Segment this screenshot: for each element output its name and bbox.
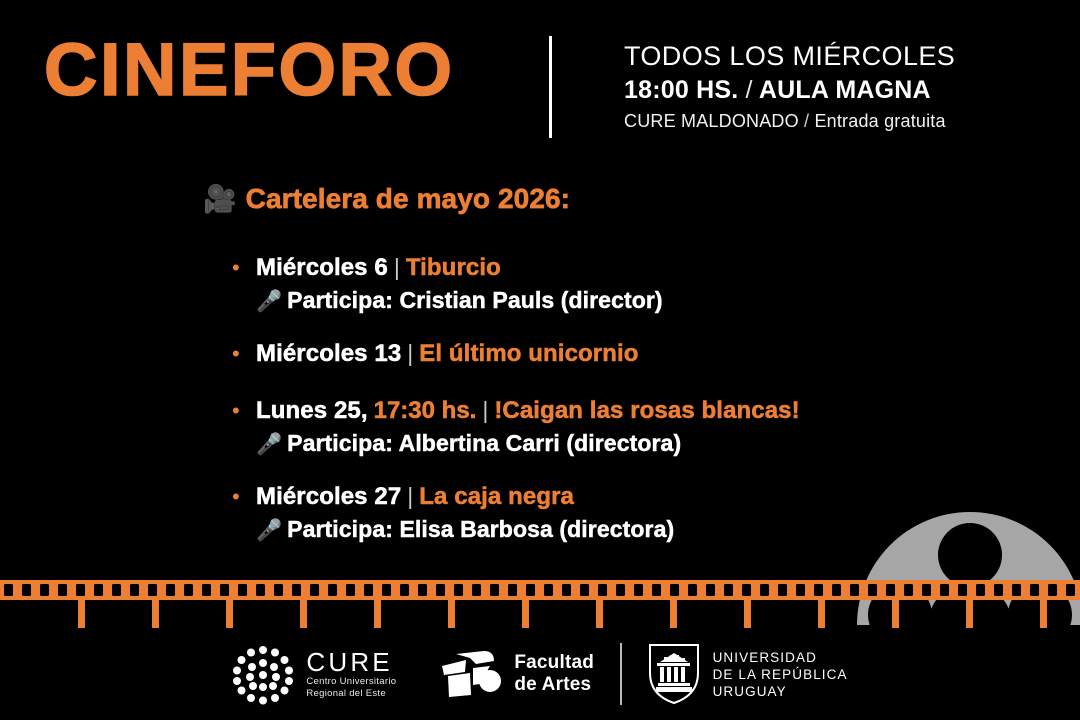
microphone-icon: 🎤 [256,430,282,460]
header-sep-1: / [746,76,753,104]
cure-logo: CURE Centro Universitario Regional del E… [232,638,422,710]
screening-date: Miércoles 27 [256,482,401,512]
film-perforation [112,584,121,596]
cure-name: CURE [306,648,396,676]
bullet-icon: • [232,482,256,512]
screening-date: Lunes 25, [256,396,368,426]
header-venue: CURE MALDONADO [624,111,799,131]
cure-subtitle-line1: Centro Universitario [306,676,396,688]
film-perforation [544,584,553,596]
film-frame-divider [966,600,973,628]
udelar-line1: UNIVERSIDAD [713,649,848,666]
title-separator-icon: | [407,481,413,511]
film-perforation [616,584,625,596]
film-perforation [346,584,355,596]
film-perforation [526,584,535,596]
film-perforation [598,584,607,596]
film-perforation [724,584,733,596]
film-perforation [166,584,175,596]
screening-guest-row: 🎤 Participa: Elisa Barbosa (directora) [232,514,1052,546]
screening-listing: • Miércoles 6 | Tiburcio 🎤 Participa: Cr… [232,252,1052,546]
film-perforation [382,584,391,596]
film-perforation [364,584,373,596]
film-perforation [760,584,769,596]
screening-film-title: La caja negra [419,482,574,512]
header-admission-note: Entrada gratuita [814,111,945,131]
film-perforation [976,584,985,596]
facultad-de-artes-logo: Facultad de Artes [422,638,620,710]
film-perforation [58,584,67,596]
screening-film-title: !Caigan las rosas blancas! [494,396,799,426]
udelar-shield-icon [648,643,700,705]
movie-camera-icon: 🎥 [203,186,237,213]
film-frame-divider [226,600,233,628]
film-perforation [130,584,139,596]
film-perforation [508,584,517,596]
list-item: • Miércoles 13 | El último unicornio [232,338,1052,369]
film-perforation [634,584,643,596]
film-frame-divider [152,600,159,628]
udelar-logo: UNIVERSIDAD DE LA REPÚBLICA URUGUAY [622,638,848,710]
film-perforation [868,584,877,596]
header-schedule-block: TODOS LOS MIÉRCOLES 18:00 HS. / AULA MAG… [624,40,1054,133]
film-perforation [400,584,409,596]
film-perforation [688,584,697,596]
film-perforation [418,584,427,596]
screening-guest-row: 🎤 Participa: Cristian Pauls (director) [232,285,1052,317]
film-frame-divider [448,600,455,628]
film-strip-frame-dividers [0,600,1080,628]
list-item: • Miércoles 27 | La caja negra 🎤 Partici… [232,481,1052,546]
film-perforation [436,584,445,596]
film-perforation [76,584,85,596]
microphone-icon: 🎤 [256,516,282,546]
bullet-icon: • [232,253,256,283]
film-perforation [292,584,301,596]
film-perforation [580,584,589,596]
film-frame-divider [670,600,677,628]
header-venue-line: CURE MALDONADO / Entrada gratuita [624,109,1054,133]
header-time-place-line: 18:00 HS. / AULA MAGNA [624,74,1054,106]
film-perforation [454,584,463,596]
film-perforation [4,584,13,596]
cineforo-poster: CINEFORO TODOS LOS MIÉRCOLES 18:00 HS. /… [0,0,1080,720]
facultad-artes-line1: Facultad [514,652,594,674]
film-perforation [148,584,157,596]
screening-film-title: Tiburcio [406,253,501,283]
bullet-icon: • [232,396,256,426]
header-place: AULA MAGNA [759,76,931,104]
udelar-logo-text: UNIVERSIDAD DE LA REPÚBLICA URUGUAY [713,649,848,700]
film-frame-divider [596,600,603,628]
list-item: • Miércoles 6 | Tiburcio 🎤 Participa: Cr… [232,252,1052,317]
film-perforation [1048,584,1057,596]
film-frame-divider [374,600,381,628]
film-perforation [328,584,337,596]
screening-date: Miércoles 6 [256,253,388,283]
film-strip-decoration [0,580,1080,628]
title-separator-icon: | [394,252,400,282]
title-separator-icon: | [482,395,488,425]
microphone-icon: 🎤 [256,287,282,317]
screening-title-row: • Miércoles 13 | El último unicornio [232,338,1052,369]
film-frame-divider [892,600,899,628]
title-separator-icon: | [407,338,413,368]
film-perforation [490,584,499,596]
film-frame-divider [78,600,85,628]
film-perforation [886,584,895,596]
screening-film-title: El último unicornio [419,339,638,369]
footer-logos: CURE Centro Universitario Regional del E… [0,628,1080,720]
film-perforation [94,584,103,596]
film-frame-divider [1040,600,1047,628]
list-item: • Lunes 25, 17:30 hs. | !Caigan las rosa… [232,395,1052,460]
screening-guest-row: 🎤 Participa: Albertina Carri (directora) [232,428,1052,460]
film-perforation [832,584,841,596]
film-perforation [706,584,715,596]
film-perforation [310,584,319,596]
screening-title-row: • Miércoles 6 | Tiburcio [232,252,1052,283]
film-perforation [220,584,229,596]
header-weekday-line: TODOS LOS MIÉRCOLES [624,40,1054,73]
film-perforation [796,584,805,596]
cure-dots-icon [232,643,294,705]
film-perforation [742,584,751,596]
screening-time: 17:30 hs. [374,396,477,426]
film-perforation [940,584,949,596]
udelar-line2: DE LA REPÚBLICA [713,666,848,683]
film-perforation [562,584,571,596]
film-perforation [850,584,859,596]
film-perforation [958,584,967,596]
billboard-heading-text: Cartelera de mayo 2026: [246,183,570,215]
film-perforation [238,584,247,596]
screening-date: Miércoles 13 [256,339,401,369]
film-perforation [184,584,193,596]
film-strip-perforations [4,584,1076,596]
film-frame-divider [522,600,529,628]
screening-guest: Participa: Cristian Pauls (director) [287,285,663,315]
screening-title-row: • Lunes 25, 17:30 hs. | !Caigan las rosa… [232,395,1052,426]
bullet-icon: • [232,339,256,369]
header-sep-2: / [804,111,809,131]
film-frame-divider [300,600,307,628]
facultad-artes-text: Facultad de Artes [514,652,594,696]
film-perforation [22,584,31,596]
film-perforation [778,584,787,596]
film-perforation [814,584,823,596]
film-perforation [1030,584,1039,596]
film-perforation [40,584,49,596]
cure-logo-text: CURE Centro Universitario Regional del E… [306,648,396,700]
cineforo-logo-title: CINEFORO [44,33,455,107]
film-perforation [1066,584,1075,596]
screening-guest: Participa: Elisa Barbosa (directora) [287,514,674,544]
film-perforation [652,584,661,596]
udelar-line3: URUGUAY [713,683,848,700]
cure-subtitle-line2: Regional del Este [306,688,396,700]
facultad-artes-line2: de Artes [514,674,594,696]
film-perforation [922,584,931,596]
film-perforation [1012,584,1021,596]
header-time: 18:00 HS. [624,76,738,104]
film-perforation [274,584,283,596]
film-perforation [670,584,679,596]
film-perforation [256,584,265,596]
facultad-artes-mark-icon [440,649,502,699]
film-frame-divider [818,600,825,628]
film-perforation [472,584,481,596]
film-perforation [904,584,913,596]
poster-header: CINEFORO TODOS LOS MIÉRCOLES 18:00 HS. /… [0,0,1080,160]
screening-guest: Participa: Albertina Carri (directora) [287,428,681,458]
film-perforation [994,584,1003,596]
header-vertical-divider [549,36,552,138]
screening-title-row: • Miércoles 27 | La caja negra [232,481,1052,512]
film-frame-divider [744,600,751,628]
film-perforation [202,584,211,596]
billboard-heading: 🎥 Cartelera de mayo 2026: [203,183,570,215]
